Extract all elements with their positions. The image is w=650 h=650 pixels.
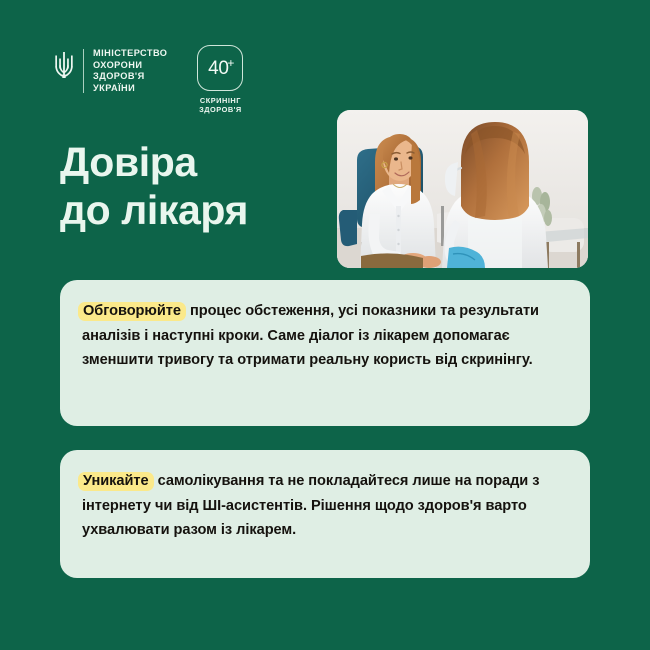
highlight-obhovoryuyte: Обговорюйте [78,302,186,321]
age-number: 40 [208,59,229,78]
ministry-line-3: ЗДОРОВ'Я [93,71,167,83]
ministry-line-1: МІНІСТЕРСТВО [93,48,167,60]
ministry-line-4: УКРАЇНИ [93,83,167,95]
screening-caption: СКРИНІНГ ЗДОРОВ'Я [199,96,242,115]
highlight-unykayte: Уникайте [78,472,154,491]
advice-card-avoid-text: Уникайте самолікування та не покладайтес… [82,469,568,543]
brand-bar: МІНІСТЕРСТВО ОХОРОНИ ЗДОРОВ'Я УКРАЇНИ 40… [54,48,243,115]
advice-card-discuss: Обговорюйте процес обстеження, усі показ… [60,280,590,426]
age-40-plus-badge: 40 + [197,45,243,91]
ministry-name: МІНІСТЕРСТВО ОХОРОНИ ЗДОРОВ'Я УКРАЇНИ [93,48,167,94]
page-title: Довіра до лікаря [60,138,340,234]
screening-line-1: СКРИНІНГ [200,96,241,105]
age-plus-sign: + [227,57,234,69]
ministry-of-health-logo: МІНІСТЕРСТВО ОХОРОНИ ЗДОРОВ'Я УКРАЇНИ [54,48,167,94]
advice-card-avoid: Уникайте самолікування та не покладайтес… [60,450,590,578]
slide-canvas: МІНІСТЕРСТВО ОХОРОНИ ЗДОРОВ'Я УКРАЇНИ 40… [0,0,650,650]
page-title-line-1: Довіра [60,138,340,186]
screening-40plus-logo: 40 + СКРИНІНГ ЗДОРОВ'Я [197,45,243,115]
page-title-line-2: до лікаря [60,186,340,234]
doctor-patient-consultation-photo [337,110,588,268]
ukraine-trident-icon [54,50,74,80]
ministry-line-2: ОХОРОНИ [93,60,167,72]
brand-divider [83,49,84,93]
advice-card-discuss-text: Обговорюйте процес обстеження, усі показ… [82,299,568,373]
screening-line-2: ЗДОРОВ'Я [199,105,242,114]
